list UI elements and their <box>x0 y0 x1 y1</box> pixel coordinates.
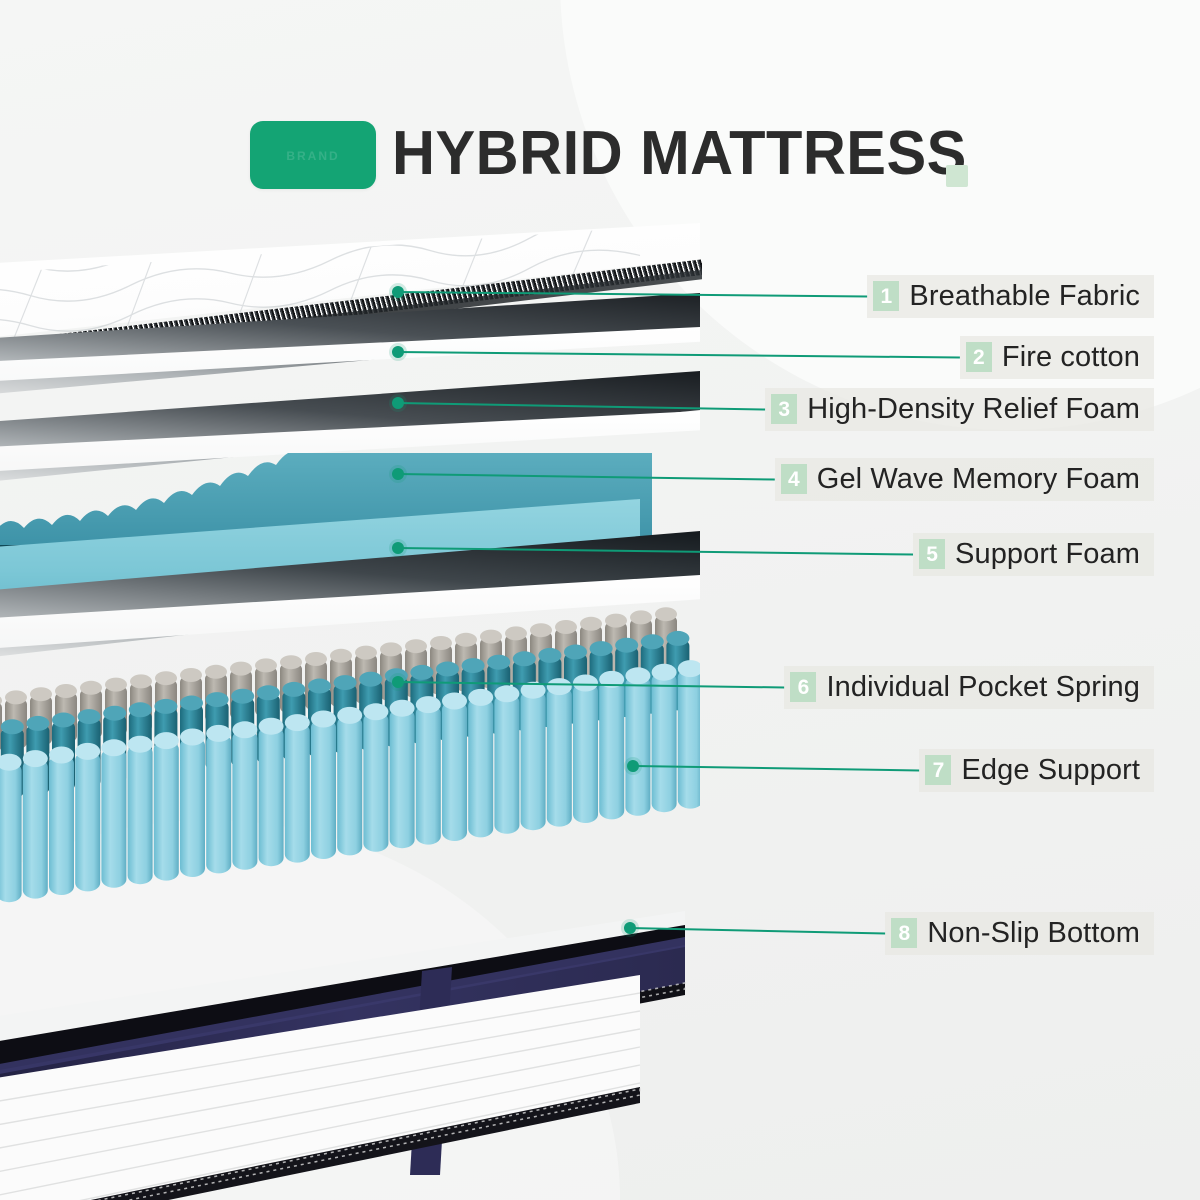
callout-row-7[interactable]: 7 Edge Support <box>919 749 1154 792</box>
title-accent-square-icon <box>946 165 968 187</box>
callout-row-2[interactable]: 2 Fire cotton <box>960 336 1154 379</box>
callout-row-3[interactable]: 3 High-Density Relief Foam <box>765 388 1154 431</box>
mattress-exploded-diagram <box>0 175 730 1200</box>
callout-label-3: High-Density Relief Foam <box>807 392 1140 426</box>
callout-label-1: Breathable Fabric <box>909 279 1140 313</box>
callout-number-8: 8 <box>891 918 917 948</box>
callout-number-6: 6 <box>790 672 816 702</box>
infographic-canvas: BRAND HYBRID MATTRESS <box>0 0 1200 1200</box>
callout-number-3: 3 <box>771 394 797 424</box>
callout-row-4[interactable]: 4 Gel Wave Memory Foam <box>775 458 1154 501</box>
callout-label-4: Gel Wave Memory Foam <box>817 462 1140 496</box>
callout-number-7: 7 <box>925 755 951 785</box>
callout-row-8[interactable]: 8 Non-Slip Bottom <box>885 912 1154 955</box>
callout-row-1[interactable]: 1 Breathable Fabric <box>867 275 1154 318</box>
callout-label-7: Edge Support <box>961 753 1140 787</box>
callout-number-2: 2 <box>966 342 992 372</box>
layer-graphic-non-slip-bottom <box>0 975 730 1200</box>
callout-row-6[interactable]: 6 Individual Pocket Spring <box>784 666 1154 709</box>
header: BRAND HYBRID MATTRESS <box>0 55 1200 153</box>
brand-logo-text: BRAND <box>250 149 376 163</box>
callout-row-5[interactable]: 5 Support Foam <box>913 533 1154 576</box>
callout-label-8: Non-Slip Bottom <box>927 916 1140 950</box>
callout-number-4: 4 <box>781 464 807 494</box>
callout-number-5: 5 <box>919 539 945 569</box>
callout-label-6: Individual Pocket Spring <box>826 670 1140 704</box>
callout-number-1: 1 <box>873 281 899 311</box>
callout-label-2: Fire cotton <box>1002 340 1140 374</box>
callout-label-5: Support Foam <box>955 537 1140 571</box>
